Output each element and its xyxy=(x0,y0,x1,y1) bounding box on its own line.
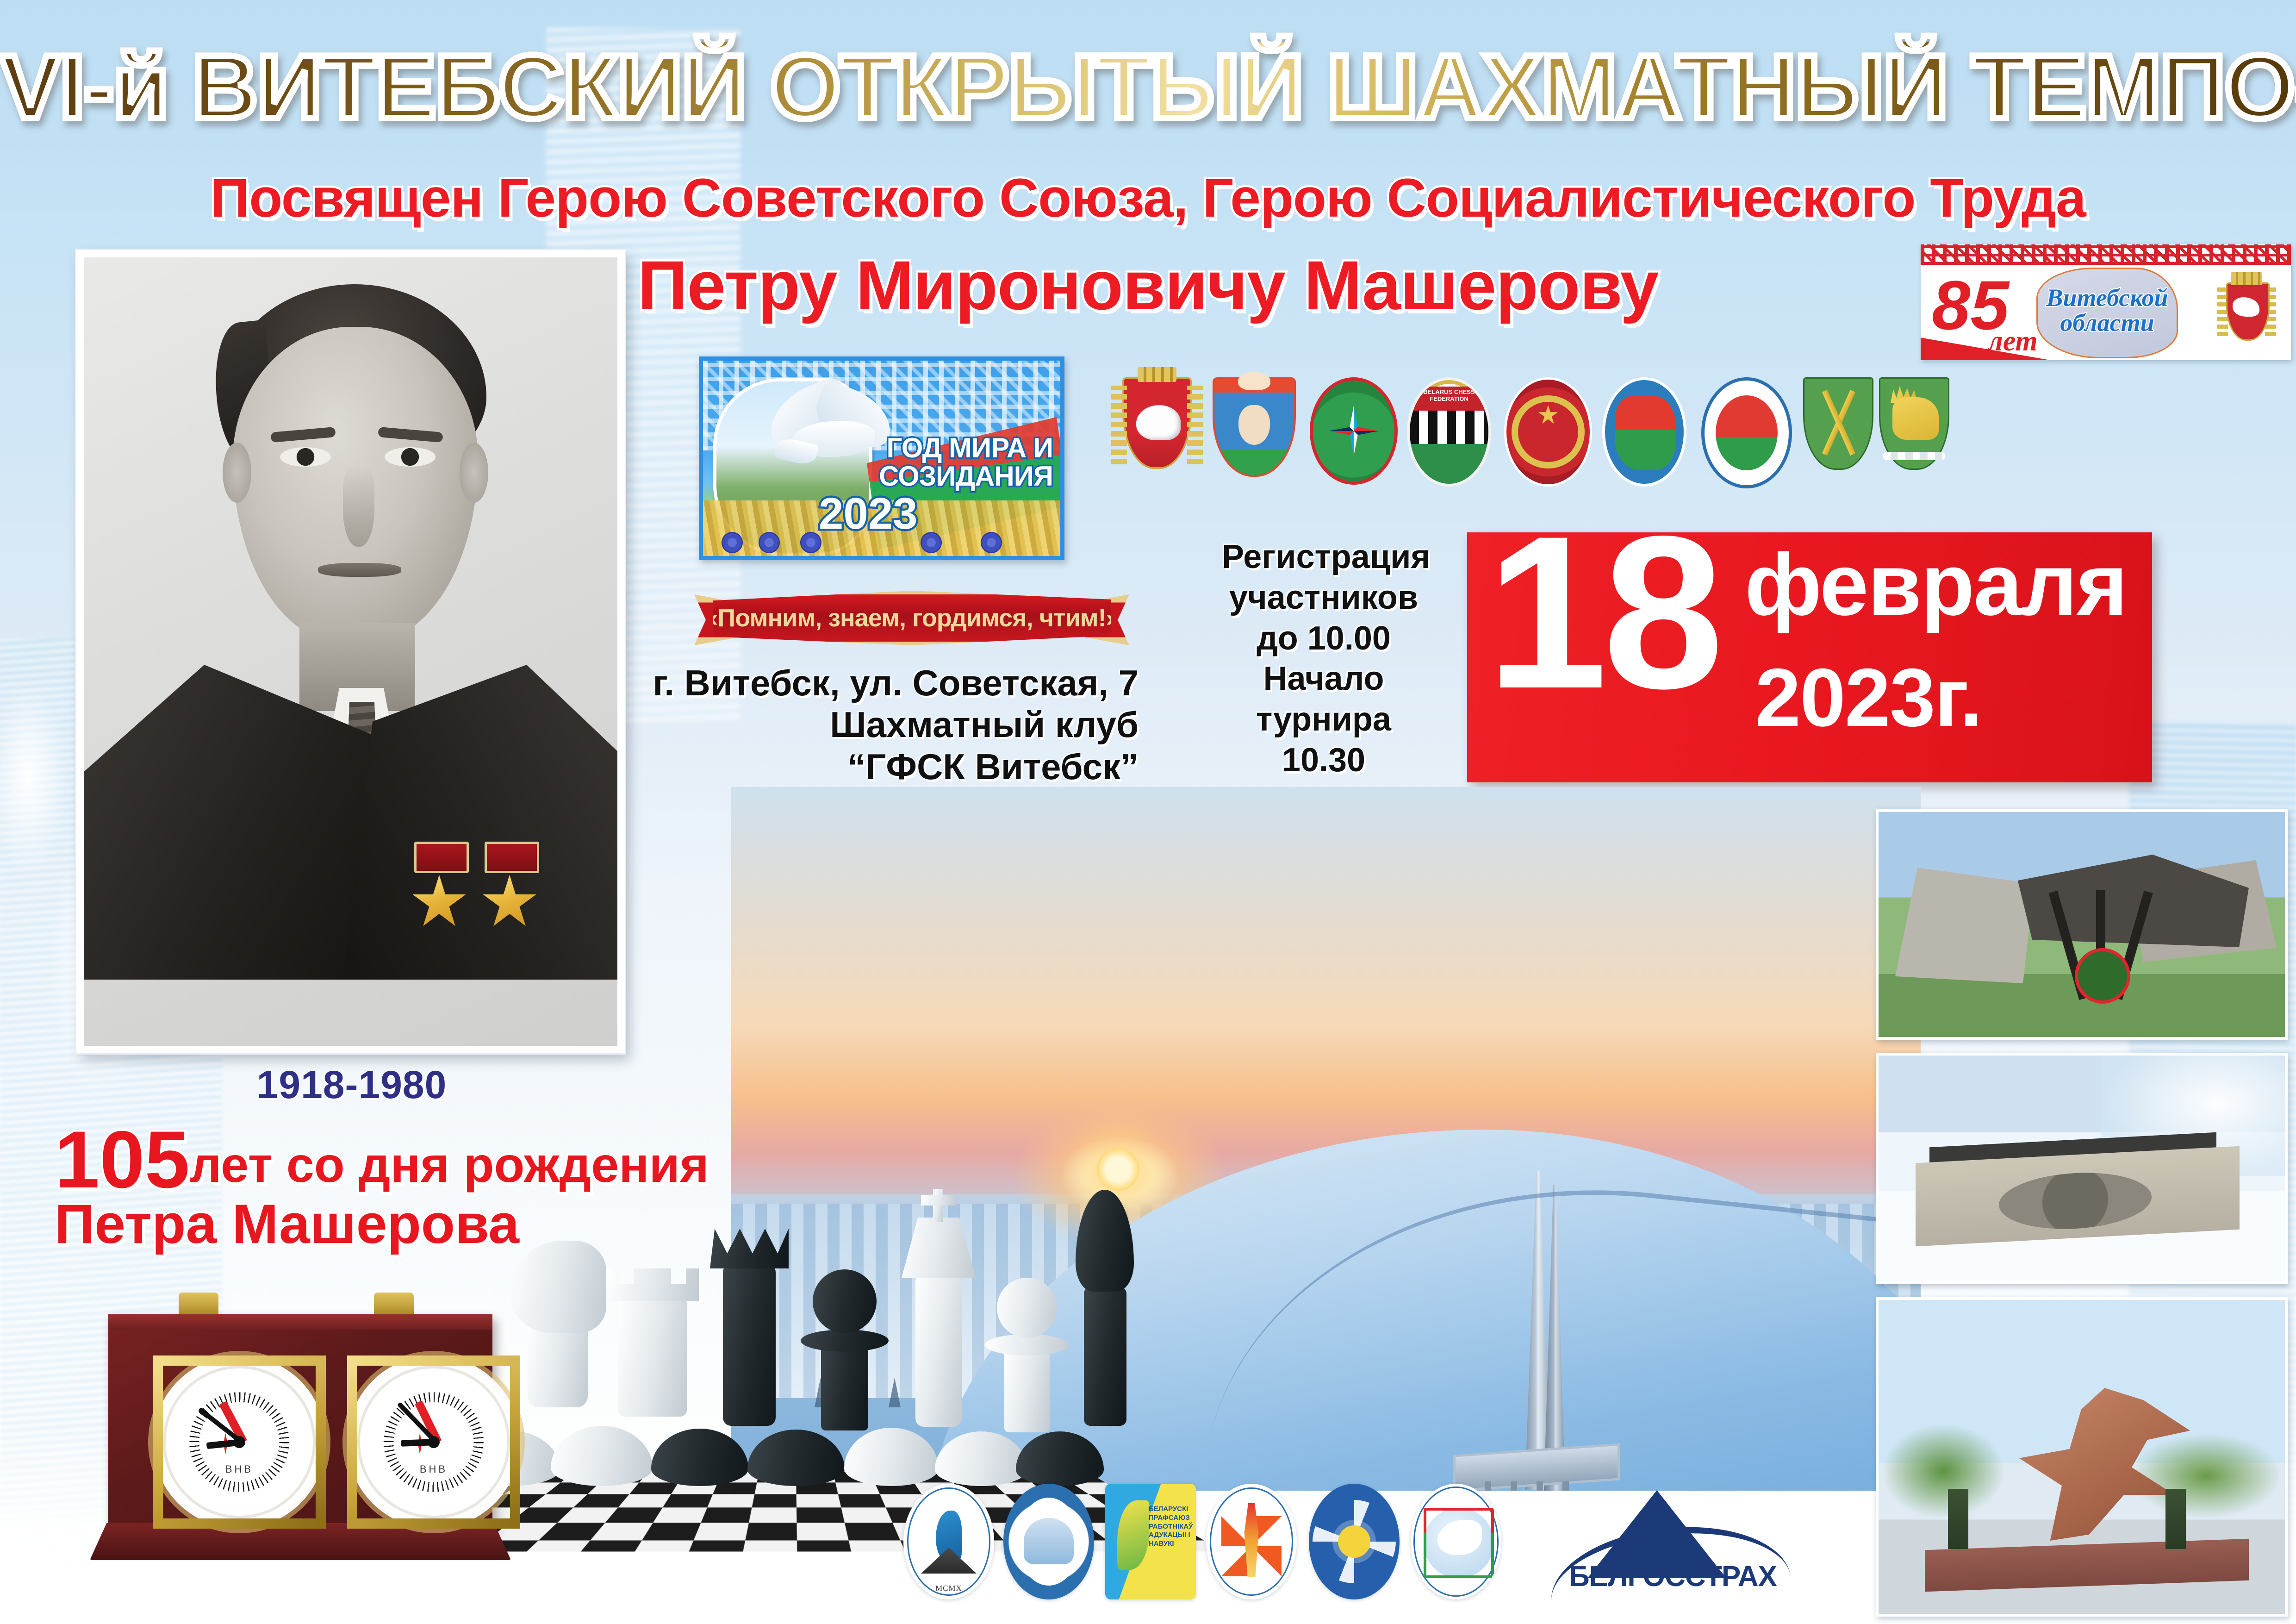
portrait-suit-left xyxy=(84,665,371,980)
chess-pieces-scene xyxy=(491,1120,1088,1624)
poster-canvas: VI-й ВИТЕБСКИЙ ОТКРЫТЫЙ ШАХМАТНЫЙ ТЕМПО-… xyxy=(0,0,2296,1624)
chess-clock-top xyxy=(108,1314,492,1330)
sun-disc-icon xyxy=(1097,1148,1139,1191)
vitebsk-region-85-years-badge: 85 лет Витебской области xyxy=(1921,244,2291,360)
badge-85-years-word: лет xyxy=(1988,327,2038,356)
winter-memorial-slab-photo xyxy=(1876,1053,2288,1284)
emblem-gfsk-vitebsk xyxy=(1701,377,1792,488)
tournament-start-time: 10.30 xyxy=(1222,740,1425,781)
emblem-vitebsk-region-coat-of-arms xyxy=(1122,377,1192,469)
chess-clock-base xyxy=(90,1523,511,1560)
portrait-ear-left xyxy=(223,443,251,503)
vitebsk-region-coat-of-arms-icon xyxy=(2214,271,2279,350)
chess-clock-dial-left: BHB xyxy=(153,1355,326,1529)
hammer-sickle-gold-medal-icon xyxy=(485,842,539,931)
portrait-nose xyxy=(343,466,374,547)
logo-vitebsk-regional-trade-unions xyxy=(1003,1484,1094,1599)
badge-region-line-1: Витебской xyxy=(2046,284,2168,312)
portrait-eye-right xyxy=(385,447,436,467)
emblem-elk-coat-of-arms xyxy=(1879,377,1949,470)
anniversary-number: 105 xyxy=(55,1115,190,1205)
venue-line-3: “ГФСК Витебск” xyxy=(602,746,1139,787)
event-date-day: 18 xyxy=(1487,504,1719,721)
cornflower-icon xyxy=(981,532,1002,553)
registration-label-1: Регистрация xyxy=(1222,537,1425,578)
ribbon-body: «Помним, знаем, гордимся, чтим!» xyxy=(713,591,1111,645)
docendo-year: MCMX xyxy=(903,1584,994,1593)
chess-clock-dial-right: BHB xyxy=(347,1355,520,1529)
logo-belarusian-fund-of-peace xyxy=(1411,1484,1501,1599)
clock-brand-right: BHB xyxy=(357,1463,510,1475)
year-of-peace-year: 2023 xyxy=(819,488,918,539)
memory-slogan-ribbon: «Помним, знаем, гордимся, чтим!» xyxy=(694,584,1129,658)
tournament-label-1: Начало xyxy=(1222,659,1425,700)
emblem-state-workers-trade-union xyxy=(1602,377,1686,487)
logo-culture-sport-tourism-trade-union xyxy=(1206,1484,1297,1599)
emblem-vitebsk-oblispolkom-sport xyxy=(1310,377,1398,485)
ribbon-text: «Помним, знаем, гордимся, чтим!» xyxy=(704,604,1119,632)
belarusian-ornament-pattern xyxy=(1921,244,2291,265)
emblem-belarus-chess-federation: BELARUS CHESS FEDERATION xyxy=(1407,377,1491,487)
year-of-peace-line-1: ГОД МИРА И xyxy=(887,432,1053,463)
logo-education-science-trade-union: БЕЛАРУСКІ ПРАФСАЮЗ РАБОТНІКАЎ АДУКАЦЫІ І… xyxy=(1105,1484,1196,1599)
logo-belgosstrakh: БЕЛГОССТРАХ xyxy=(1527,1484,1805,1599)
memorial-boulder-and-cannons-photo xyxy=(1876,809,2288,1040)
clock-brand-left: BHB xyxy=(163,1463,316,1475)
year-of-peace-title: ГОД МИРА И СОЗИДАНИЯ xyxy=(879,434,1053,490)
logo-snowflake-sun xyxy=(1309,1484,1400,1599)
belgosstrakh-wordmark: БЕЛГОССТРАХ xyxy=(1569,1560,1763,1593)
venue-address: г. Витебск, ул. Советская, 7 Шахматный к… xyxy=(602,662,1139,787)
venue-line-1: г. Витебск, ул. Советская, 7 xyxy=(602,662,1139,704)
year-of-peace-banner: ГОД МИРА И СОЗИДАНИЯ 2023 xyxy=(699,356,1064,560)
portrait-life-years: 1918-1980 xyxy=(76,1062,627,1107)
registration-label-2: участников xyxy=(1222,578,1425,618)
page-title: VI-й ВИТЕБСКИЙ ОТКРЫТЫЙ ШАХМАТНЫЙ ТЕМПО-… xyxy=(0,42,2296,132)
emblem-vitebsk-city-coat-of-arms xyxy=(1213,377,1296,477)
year-of-peace-line-2: СОЗИДАНИЯ xyxy=(879,461,1053,492)
tournament-label-2: турнира xyxy=(1222,700,1425,740)
registration-times: Регистрация участников до 10.00 Начало т… xyxy=(1222,537,1425,781)
cornflower-icon xyxy=(722,532,743,553)
registration-deadline: до 10.00 xyxy=(1222,618,1425,659)
portrait-ear-right xyxy=(460,443,488,503)
wooden-chess-clock: BHB BHB xyxy=(83,1282,518,1579)
running-soldier-monument-photo xyxy=(1876,1297,2288,1617)
badge-region-name: Витебской области xyxy=(2040,285,2174,335)
emblem-crossed-scythes-coat-of-arms xyxy=(1803,377,1873,470)
cornflower-icon xyxy=(921,532,942,553)
education-union-label: БЕЛАРУСКІ ПРАФСАЮЗ РАБОТНІКАЎ АДУКАЦЫІ І… xyxy=(1149,1505,1191,1549)
logo-docendo-discimus: MCMX xyxy=(903,1484,994,1599)
portrait-mouth xyxy=(318,563,401,577)
chess-federation-label: BELARUS CHESS FEDERATION xyxy=(1410,388,1488,402)
event-date-year: 2023г. xyxy=(1755,656,1982,739)
gold-star-medal-icon xyxy=(414,842,469,931)
event-date-badge: 18 февраля 2023г. xyxy=(1467,532,2152,782)
portrait-eye-left xyxy=(280,447,331,467)
emblem-belarusian-veterans-union xyxy=(1504,377,1592,487)
portrait-frame xyxy=(76,250,625,1053)
venue-line-2: Шахматный клуб xyxy=(602,704,1139,745)
masherov-portrait-photo xyxy=(84,257,617,1046)
cornflower-icon xyxy=(759,532,780,553)
event-date-month: февраля xyxy=(1745,541,2127,629)
badge-region-line-2: области xyxy=(2060,309,2154,337)
subtitle-line-1: Посвящен Герою Советского Союза, Герою С… xyxy=(0,167,2296,230)
